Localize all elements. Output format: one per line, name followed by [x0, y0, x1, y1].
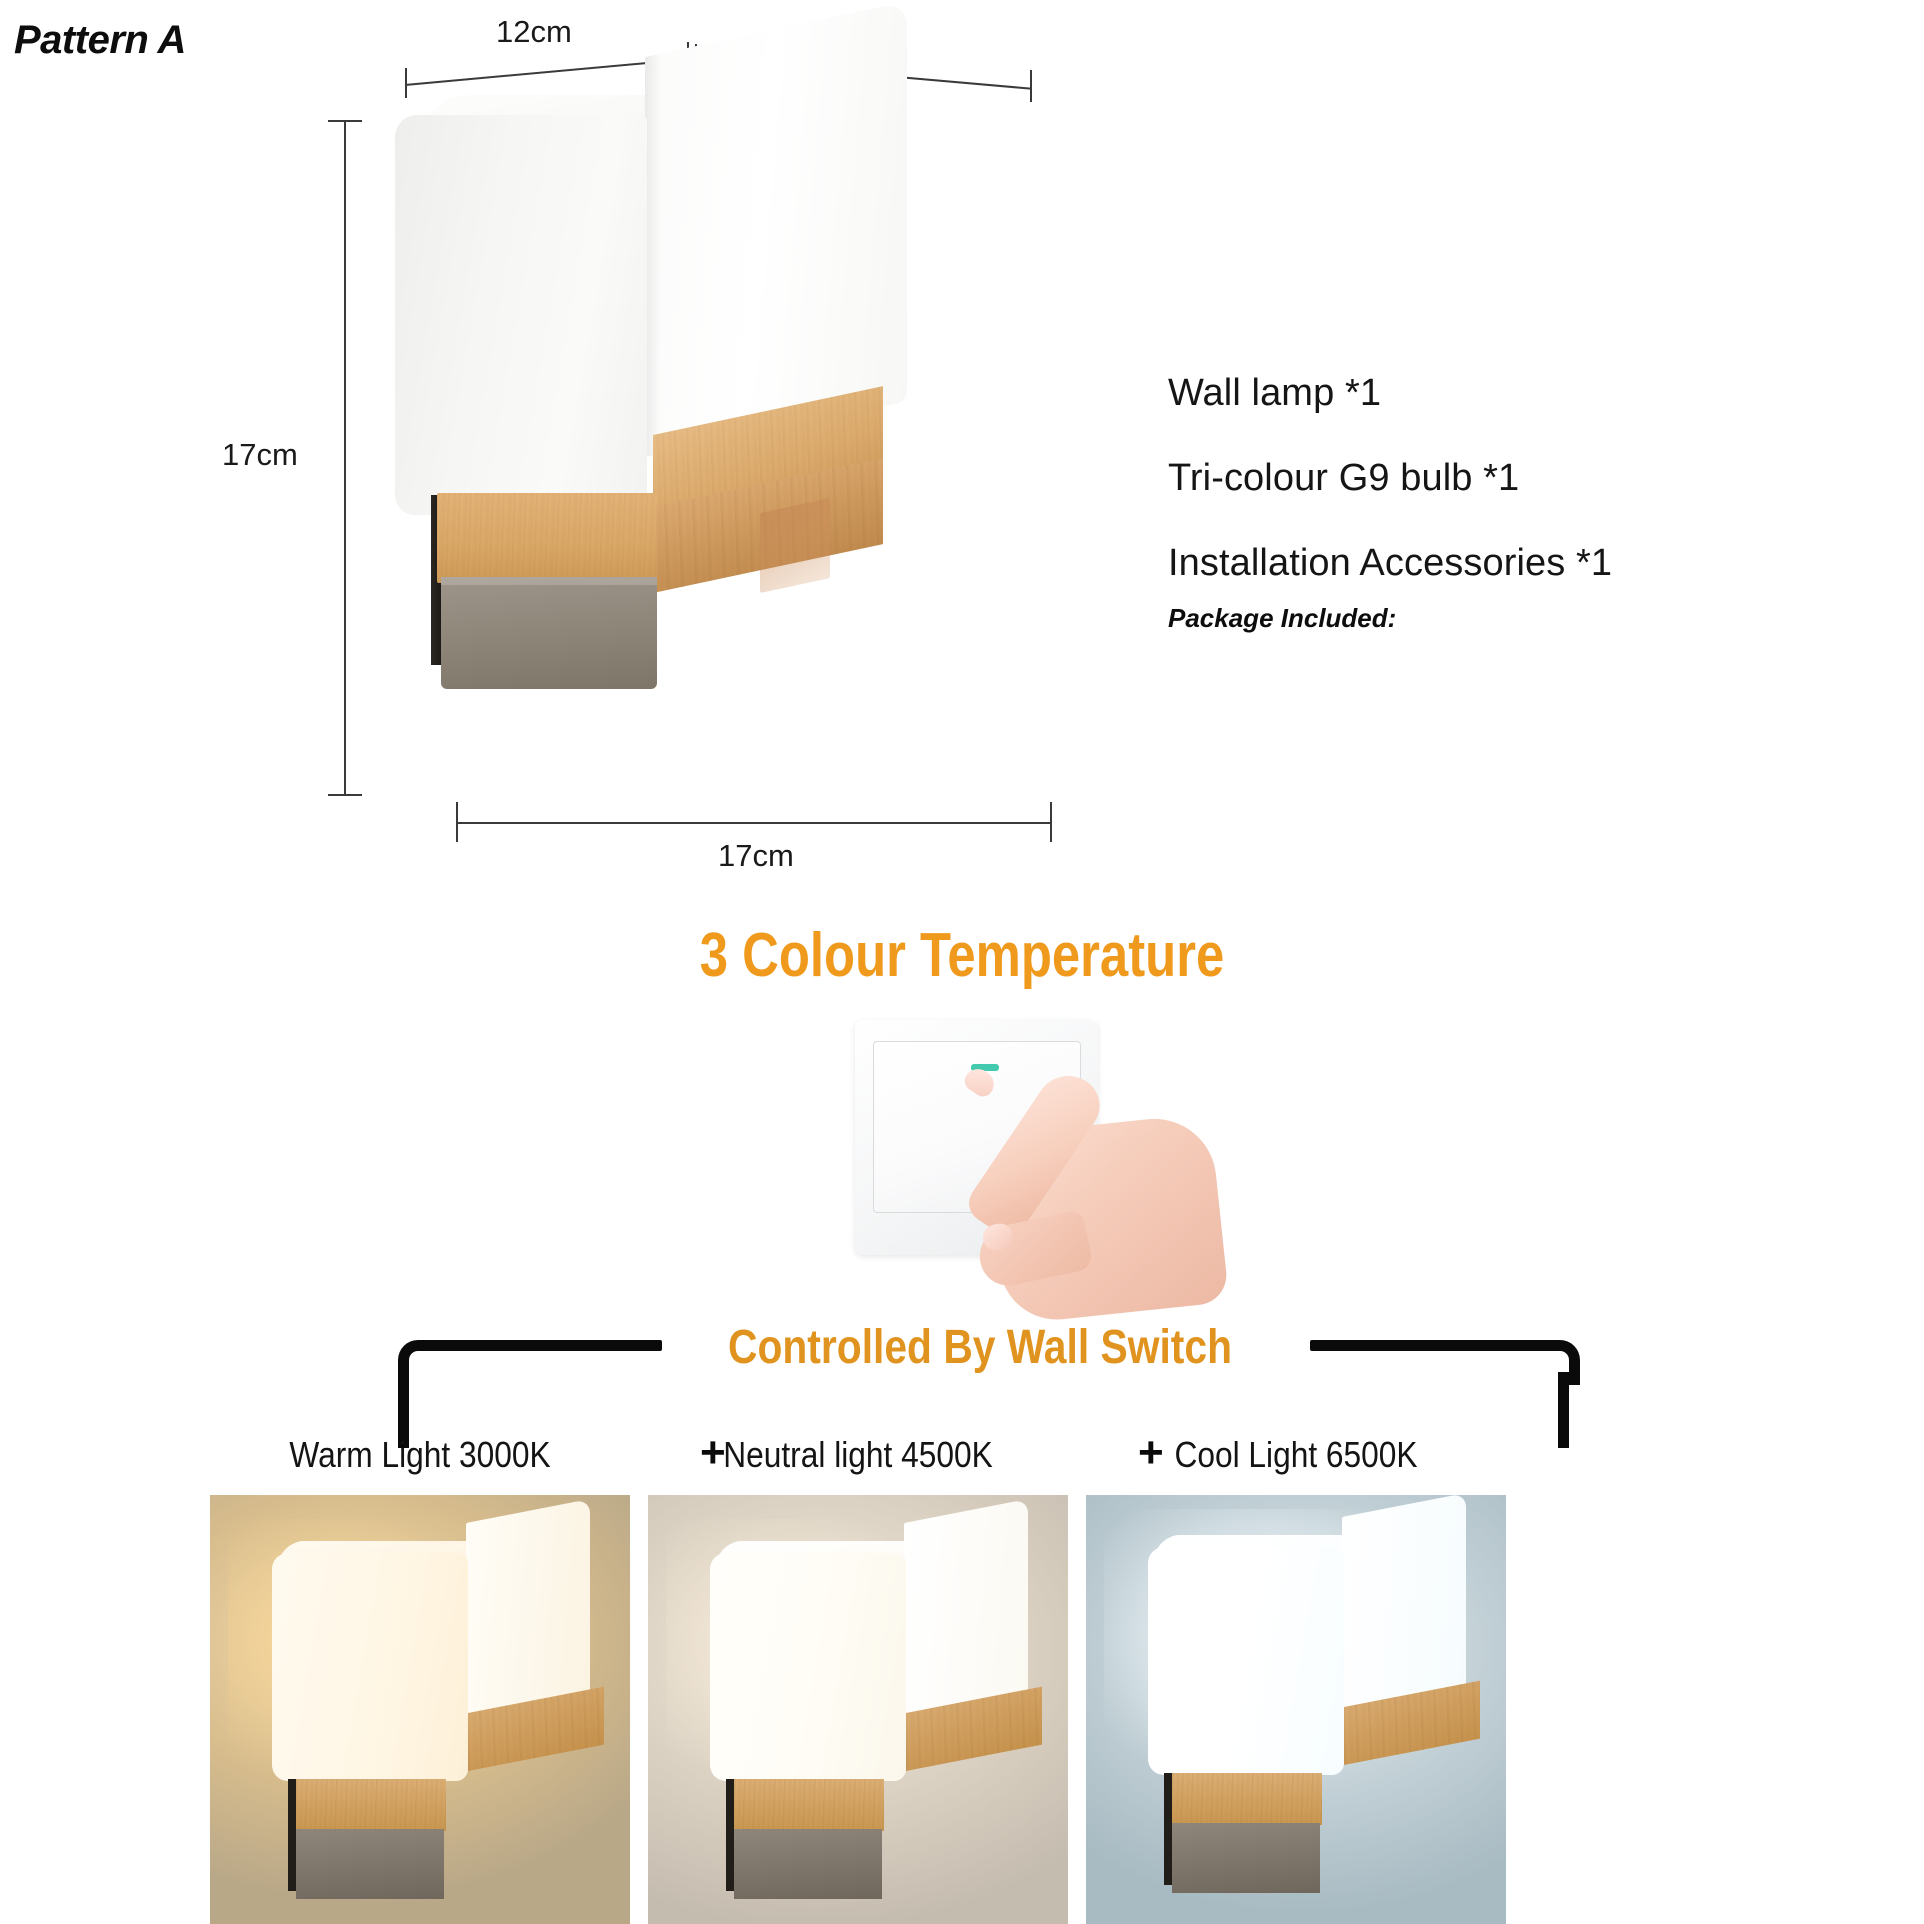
- lamp-metal-backplate-highlight: [441, 577, 657, 585]
- lamp-wood-grain-knot: [760, 498, 830, 593]
- package-included-block: Wall lamp *1 Tri-colour G9 bulb *1 Insta…: [1168, 372, 1612, 634]
- bracket-right-arm: [1310, 1340, 1548, 1351]
- lamp-metal-backplate: [441, 577, 657, 689]
- package-included-heading: Package Included:: [1168, 603, 1612, 634]
- dimension-height-line: [344, 120, 346, 796]
- package-item-bulb: Tri-colour G9 bulb *1: [1168, 457, 1612, 500]
- neutral-metal-plate: [734, 1829, 882, 1899]
- dimension-depth-left-tick: [456, 802, 458, 842]
- dimension-height-label: 17cm: [222, 437, 298, 473]
- package-item-accessories: Installation Accessories *1: [1168, 542, 1612, 585]
- warm-wood-front: [296, 1779, 446, 1831]
- dimension-depth-line: [456, 822, 1052, 824]
- package-item-wall-lamp: Wall lamp *1: [1168, 372, 1612, 415]
- mode-label-neutral: Neutral light 4500K: [673, 1434, 1043, 1476]
- bracket-right-leg: [1558, 1372, 1569, 1448]
- dimension-height-bottom-tick: [328, 794, 362, 796]
- photo-panel-neutral-light: [648, 1495, 1068, 1924]
- dimension-depth-label: 17cm: [718, 838, 794, 874]
- photo-panel-cool-light: [1086, 1495, 1506, 1924]
- lamp-shade-edge-shadow: [645, 54, 661, 457]
- mode-label-cool: Cool Light 6500K: [1111, 1434, 1481, 1476]
- neutral-wood-front: [734, 1779, 884, 1831]
- warm-shade-front: [272, 1553, 468, 1781]
- wall-switch-illustration: [855, 1020, 1215, 1310]
- dimension-top-left-tick: [405, 68, 407, 98]
- bracket-left-arm: [418, 1340, 662, 1351]
- controlled-by-wall-switch-label: Controlled By Wall Switch: [691, 1320, 1269, 1375]
- cool-shade-front: [1148, 1547, 1344, 1775]
- neutral-shade-front: [710, 1553, 906, 1781]
- product-hero-image: [395, 95, 915, 655]
- dimension-top-left-label: 12cm: [496, 14, 572, 50]
- pattern-label: Pattern A: [14, 18, 186, 63]
- cool-metal-plate: [1172, 1823, 1320, 1893]
- dimension-depth-right-tick: [1050, 802, 1052, 842]
- mode-label-warm: Warm Light 3000K: [235, 1434, 605, 1476]
- colour-temperature-title: 3 Colour Temperature: [173, 920, 1751, 991]
- warm-metal-plate: [296, 1829, 444, 1899]
- dimension-top-right-tick: [1030, 70, 1032, 102]
- lamp-wood-front-bar: [437, 493, 657, 583]
- lamp-shade-front-face: [395, 115, 647, 515]
- dimension-height-top-tick: [328, 120, 362, 122]
- photo-panel-warm-light: [210, 1495, 630, 1924]
- cool-wood-front: [1172, 1773, 1322, 1825]
